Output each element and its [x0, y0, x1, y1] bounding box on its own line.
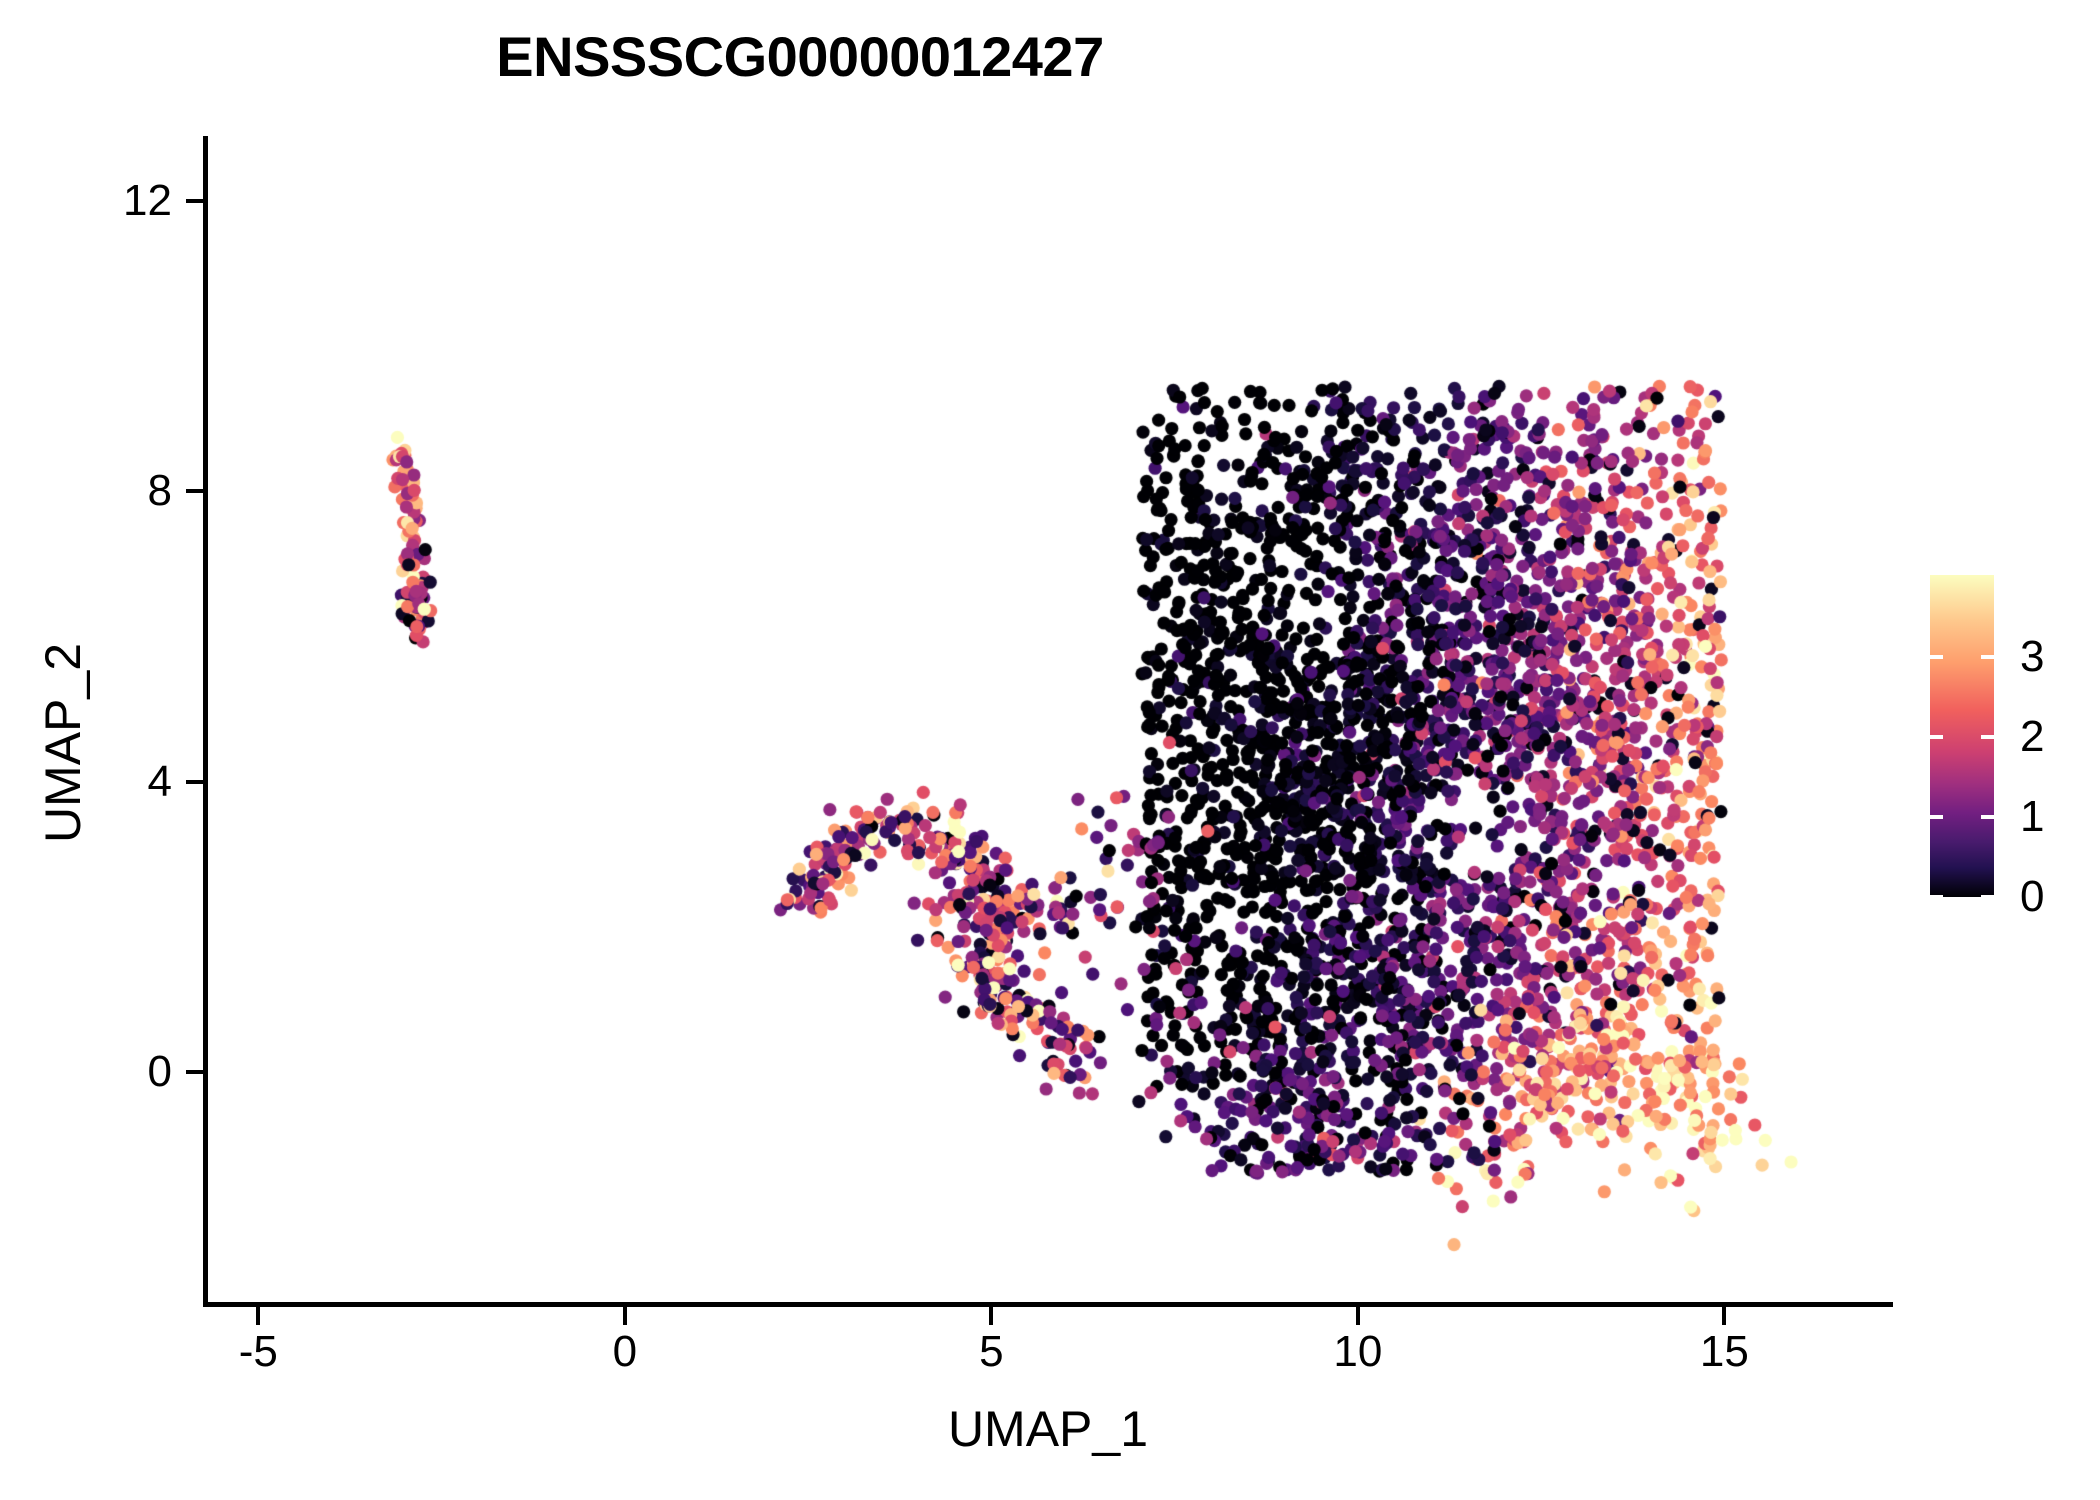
legend-tick-mark: [1981, 815, 1994, 819]
legend-tick-label: 2: [2020, 715, 2044, 759]
umap-feature-plot: ENSSSCG00000012427 12840 -5051015 UMAP_1…: [0, 0, 2100, 1500]
legend-tick-mark: [1981, 895, 1994, 899]
legend-tick-mark: [1981, 655, 1994, 659]
legend-tick-label: 3: [2020, 635, 2044, 679]
x-tick-mark: [1722, 1307, 1726, 1325]
color-legend: 3210: [1930, 575, 1994, 897]
legend-tick-mark: [1930, 655, 1943, 659]
x-tick-label: 15: [1644, 1330, 1804, 1374]
x-axis-title: UMAP_1: [203, 1400, 1893, 1458]
legend-tick-mark: [1930, 735, 1943, 739]
x-tick-label: -5: [178, 1330, 338, 1374]
y-axis-line: [203, 136, 208, 1306]
legend-tick-mark: [1981, 735, 1994, 739]
x-tick-label: 10: [1278, 1330, 1438, 1374]
x-tick-mark: [256, 1307, 260, 1325]
legend-tick-mark: [1930, 895, 1943, 899]
y-tick-label: 12: [62, 179, 172, 223]
legend-tick-mark: [1930, 815, 1943, 819]
x-axis-line: [203, 1302, 1893, 1307]
y-tick-mark: [186, 489, 204, 493]
scatter-plot-canvas: [0, 0, 2100, 1500]
y-tick-mark: [186, 1070, 204, 1074]
y-tick-mark: [186, 199, 204, 203]
y-axis-title: UMAP_2: [34, 393, 92, 1093]
x-tick-label: 5: [911, 1330, 1071, 1374]
legend-tick-label: 0: [2020, 875, 2044, 919]
x-tick-mark: [623, 1307, 627, 1325]
legend-tick-label: 1: [2020, 795, 2044, 839]
y-tick-mark: [186, 780, 204, 784]
x-tick-label: 0: [545, 1330, 705, 1374]
x-tick-mark: [989, 1307, 993, 1325]
x-tick-mark: [1356, 1307, 1360, 1325]
color-legend-gradient-bar: [1930, 575, 1994, 897]
